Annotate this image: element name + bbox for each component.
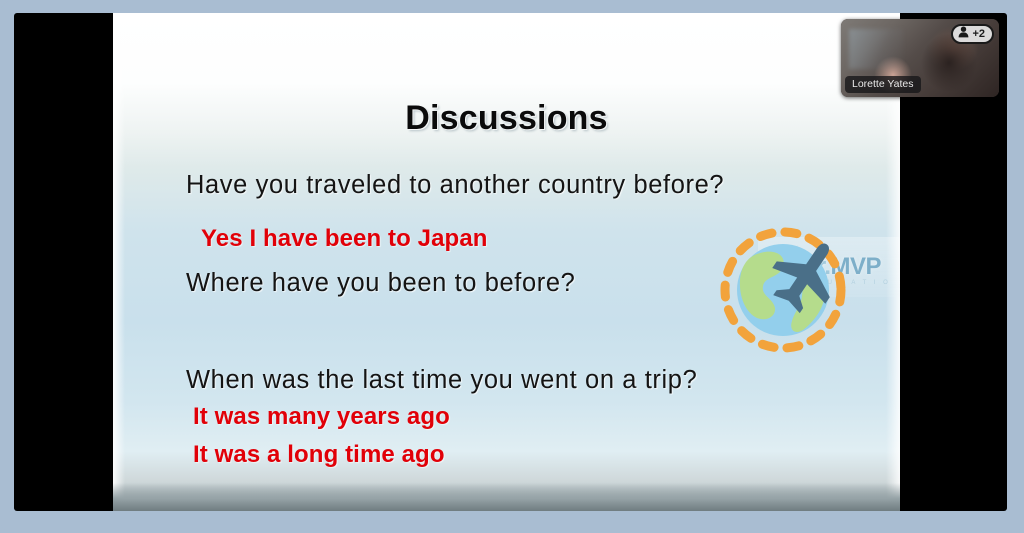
participant-count-label: +2 (972, 29, 985, 40)
participant-name-label: Lorette Yates (845, 76, 921, 93)
discussion-question-1: Have you traveled to another country bef… (186, 171, 724, 200)
slide-footer-band (113, 483, 900, 511)
participant-count-badge[interactable]: +2 (951, 24, 994, 44)
participant-video-tile[interactable]: +2 Lorette Yates (841, 19, 999, 97)
discussion-answer-1: Yes I have been to Japan (201, 225, 488, 253)
person-icon (958, 25, 969, 43)
discussion-question-2: Where have you been to before? (186, 269, 575, 298)
globe-airplane-travel-icon (707, 218, 875, 363)
slide-left-edge-sheen (113, 13, 125, 511)
video-player-frame: Dr.MVPE D U C A T I O N (0, 0, 1024, 533)
discussion-answer-3: It was a long time ago (193, 441, 445, 469)
video-letterbox-area: Dr.MVPE D U C A T I O N (14, 13, 1007, 511)
discussion-question-3: When was the last time you went on a tri… (186, 366, 697, 395)
presentation-slide: Dr.MVPE D U C A T I O N (113, 13, 900, 511)
slide-title: Discussions (113, 99, 900, 138)
discussion-answer-2: It was many years ago (193, 403, 450, 431)
